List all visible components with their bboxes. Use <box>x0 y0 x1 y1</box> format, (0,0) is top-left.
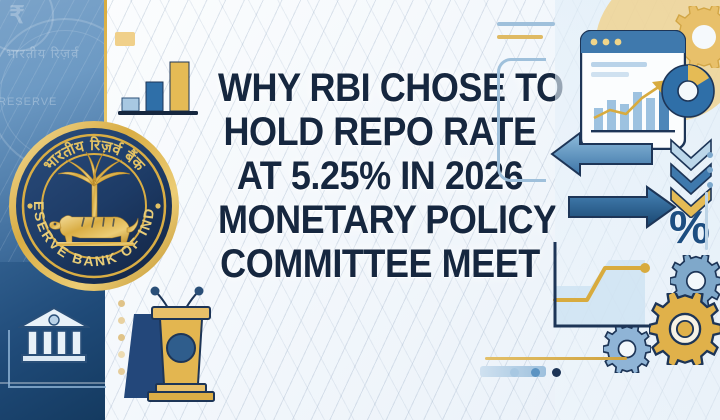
vertical-bar-accent <box>705 192 708 250</box>
line-chart-plateau <box>545 238 655 336</box>
gold-square-accent <box>115 32 135 46</box>
headline-line-3: AT 5.25% IN 2026 <box>218 154 542 198</box>
donut-chart-icon <box>659 62 717 120</box>
vertical-dot-accents <box>707 152 713 188</box>
dot-sequence <box>510 368 561 377</box>
headline-line-5: COMMITTEE MEET <box>218 242 542 286</box>
rbi-emblem: भारतीय रिज़र्व बैंक RESERVE BANK OF INDI… <box>8 120 180 292</box>
corner-frame-line <box>8 330 106 388</box>
page-title: WHY RBI CHOSE TO HOLD REPO RATE AT 5.25%… <box>218 66 542 286</box>
watermark-devanagari: भारतीय रिज़र्व <box>6 44 79 62</box>
watermark-seal-text: RESERVE <box>0 96 57 108</box>
poster-canvas: ₹ भारतीय रिज़र्व RESERVE <box>0 0 720 420</box>
arrow-right-icon <box>567 185 677 229</box>
podium-illustration <box>112 280 242 405</box>
headline-line-4: MONETARY POLICY <box>218 198 542 242</box>
small-bar-chart <box>118 52 200 118</box>
horizontal-line-accents <box>497 22 557 48</box>
rupee-symbol: ₹ <box>9 1 24 30</box>
headline-line-2: HOLD REPO RATE <box>218 110 542 154</box>
arrow-left-icon <box>550 130 654 178</box>
right-graphics-panel: % <box>555 0 720 420</box>
headline-line-1: WHY RBI CHOSE TO <box>218 66 542 110</box>
rounded-frame-accent <box>497 58 546 182</box>
gear-gold-bottom-right-icon <box>649 293 720 365</box>
gold-rule-accent <box>485 357 627 360</box>
